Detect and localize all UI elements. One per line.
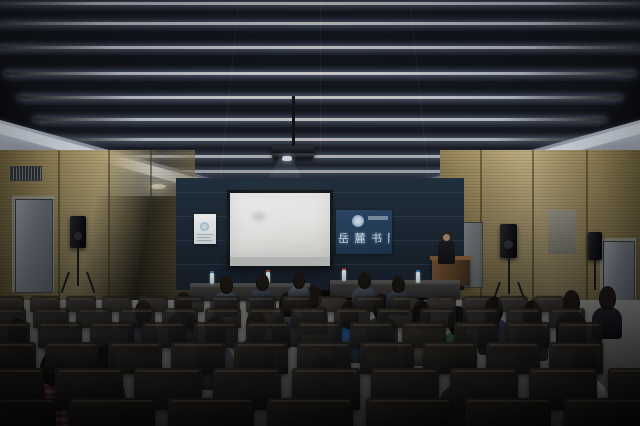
chair-back-highlight: [249, 298, 273, 300]
chair-back-highlight: [369, 400, 449, 402]
chair-back-highlight: [213, 298, 237, 300]
chair-back-highlight: [33, 298, 57, 300]
chair-back-highlight: [300, 344, 348, 346]
chair-back-highlight: [0, 324, 27, 326]
chair[interactable]: [366, 398, 452, 426]
chair-back-highlight: [0, 298, 21, 300]
chair-back-highlight: [552, 310, 582, 312]
chair-back-highlight: [216, 370, 278, 372]
chair-back-highlight: [468, 400, 548, 402]
chair-back-highlight: [353, 324, 391, 326]
chair-back-highlight: [145, 324, 183, 326]
chair-back-highlight: [48, 344, 96, 346]
poster-text-line: [197, 240, 212, 241]
chair-back-highlight: [501, 298, 525, 300]
chair-back-highlight: [321, 298, 345, 300]
chair-back-highlight: [457, 324, 495, 326]
chair-back-highlight: [79, 310, 109, 312]
chair-back-highlight: [429, 298, 453, 300]
speaker-stand-pole: [77, 248, 79, 286]
poster-emblem-icon: [200, 222, 209, 231]
chair-back-highlight: [249, 324, 287, 326]
speaker-cone-icon: [504, 240, 513, 249]
chair-back-highlight: [363, 344, 411, 346]
bottle-cap-icon: [266, 270, 270, 272]
banner-subtitle: [368, 216, 388, 220]
institution-emblem-icon: [352, 215, 364, 227]
chair-back-highlight: [270, 400, 350, 402]
bottle-cap-icon: [342, 268, 346, 270]
poster-text-line: [197, 234, 213, 235]
chair[interactable]: [564, 398, 640, 426]
chair-back-highlight: [93, 324, 131, 326]
chair-back-highlight: [197, 324, 235, 326]
ceiling-seam: [320, 0, 321, 150]
chair-back-highlight: [41, 324, 79, 326]
door-left[interactable]: [15, 199, 53, 293]
chair-back-highlight: [165, 310, 195, 312]
chair-back-highlight: [237, 344, 285, 346]
chair-back-highlight: [0, 370, 41, 372]
chair-back-highlight: [426, 344, 474, 346]
chair-back-highlight: [380, 310, 410, 312]
chair-back-highlight: [465, 298, 489, 300]
chair-back-highlight: [423, 310, 453, 312]
audience-head: [599, 286, 616, 310]
pa-speaker-far-right: [588, 232, 602, 260]
chair-back-highlight: [337, 310, 367, 312]
chair[interactable]: [267, 398, 353, 426]
chair-back-highlight: [509, 310, 539, 312]
chair-back-highlight: [294, 310, 324, 312]
water-bottle: [416, 272, 420, 283]
chair-back-highlight: [532, 370, 594, 372]
chair-back-highlight: [357, 298, 381, 300]
chair-back-highlight: [171, 400, 251, 402]
screen-bottom-bar: [230, 257, 330, 266]
bottle-cap-icon: [416, 270, 420, 272]
chair-back-highlight: [208, 310, 238, 312]
audience-head: [293, 272, 305, 289]
chair[interactable]: [465, 398, 551, 426]
speaker-stand-pole: [508, 258, 510, 294]
audience-head: [358, 272, 371, 289]
lecture-hall-photo: 岳 麓 书 院 Rear view of an audience seated …: [0, 0, 640, 426]
chair-back-highlight: [58, 370, 120, 372]
chair-back-highlight: [374, 370, 436, 372]
chair-back-highlight: [561, 324, 599, 326]
chair-back-highlight: [0, 310, 23, 312]
chair-back-highlight: [393, 298, 417, 300]
speaker-cone-icon: [74, 232, 82, 240]
chair-back-highlight: [72, 400, 152, 402]
water-bottle: [342, 270, 346, 281]
presenter-body: [438, 240, 455, 264]
screen-highlight: [252, 212, 266, 221]
chair[interactable]: [69, 398, 155, 426]
chair-back-highlight: [285, 298, 309, 300]
projection-screen: [230, 193, 330, 257]
chair-back-highlight: [567, 400, 640, 402]
chair-back-highlight: [251, 310, 281, 312]
chair-back-highlight: [111, 344, 159, 346]
chair-back-highlight: [301, 324, 339, 326]
audience-head: [256, 274, 269, 291]
presenter-face: [443, 234, 450, 241]
chair-back-highlight: [0, 400, 53, 402]
chair-back-highlight: [0, 344, 33, 346]
chair-back-highlight: [453, 370, 515, 372]
chair-back-highlight: [405, 324, 443, 326]
chair-back-highlight: [137, 370, 199, 372]
chair-back-highlight: [295, 370, 357, 372]
chair-back-highlight: [36, 310, 66, 312]
chair-back-highlight: [552, 344, 600, 346]
wall-panel-window-right: [548, 210, 576, 254]
chair-back-highlight: [177, 298, 201, 300]
chair-back-highlight: [174, 344, 222, 346]
chair-back-highlight: [69, 298, 93, 300]
chair-back-highlight: [122, 310, 152, 312]
chair-back-highlight: [537, 298, 561, 300]
chair-back-highlight: [489, 344, 537, 346]
chair-back-highlight: [105, 298, 129, 300]
chair-back-highlight: [466, 310, 496, 312]
projector-mount-pole: [292, 96, 295, 148]
chair[interactable]: [0, 398, 56, 426]
audience-head: [392, 276, 405, 293]
bottle-cap-icon: [210, 271, 214, 273]
chair-back-highlight: [509, 324, 547, 326]
audience-head: [220, 276, 233, 294]
poster-text-line: [197, 237, 210, 238]
banner-text: 岳 麓 书 院: [338, 231, 390, 247]
chair-back-highlight: [141, 298, 165, 300]
chair-back-highlight: [611, 370, 640, 372]
chair[interactable]: [168, 398, 254, 426]
air-vent-grille: [10, 166, 42, 181]
projector: [272, 146, 314, 159]
